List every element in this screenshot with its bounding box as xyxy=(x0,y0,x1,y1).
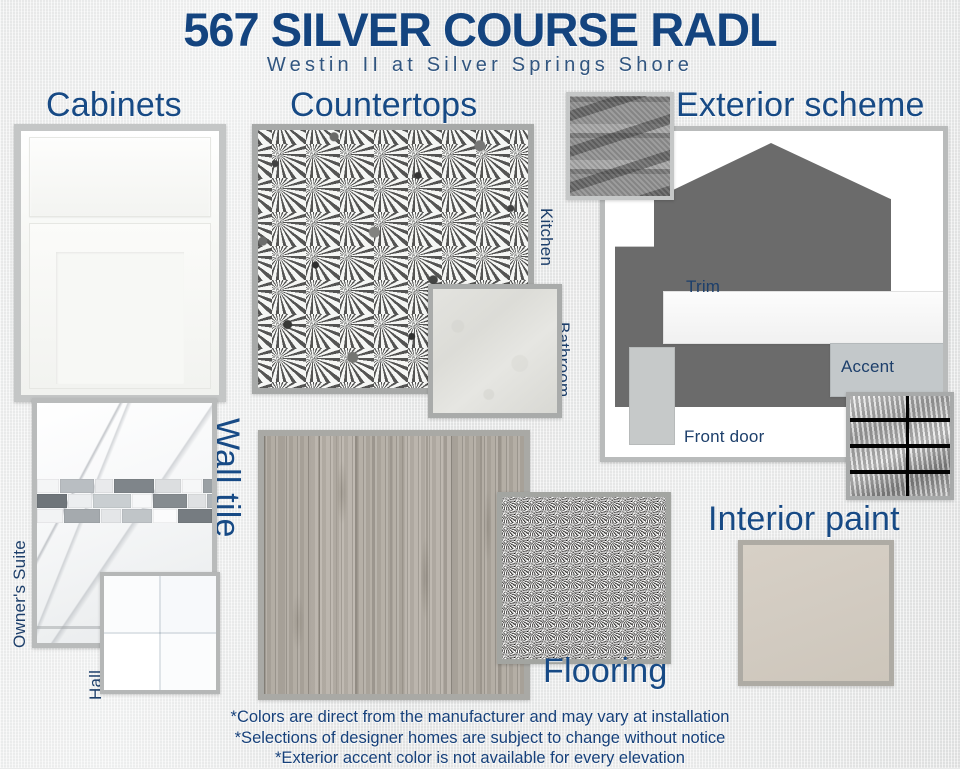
shingle-texture xyxy=(570,96,670,196)
flooring-carpet-swatch[interactable] xyxy=(497,492,671,664)
interior-paint-swatch[interactable] xyxy=(738,540,894,686)
mosaic-tile xyxy=(64,509,100,523)
mosaic-tile xyxy=(213,509,217,523)
hall-tile-texture xyxy=(104,576,216,690)
section-title-countertops: Countertops xyxy=(290,86,477,125)
mosaic-tile xyxy=(95,479,113,493)
page-title: 567 SILVER COURSE RADL xyxy=(0,2,960,57)
page-subtitle: Westin II at Silver Springs Shore xyxy=(0,54,960,77)
countertop-bathroom-swatch[interactable] xyxy=(428,284,562,418)
front-door-swatch[interactable] xyxy=(629,347,675,445)
mosaic-tile xyxy=(188,494,206,508)
mosaic-tile xyxy=(178,509,212,523)
mosaic-tile xyxy=(155,479,181,493)
section-title-cabinets: Cabinets xyxy=(46,86,182,125)
mosaic-tile xyxy=(60,479,94,493)
mosaic-tile xyxy=(37,479,59,493)
wall-tile-hall-swatch[interactable] xyxy=(100,572,220,694)
mosaic-tile xyxy=(203,479,217,493)
cabinet-door-panel xyxy=(56,252,184,384)
mosaic-row-3 xyxy=(37,509,212,523)
mosaic-tile xyxy=(101,509,121,523)
disclaimer-block: *Colors are direct from the manufacturer… xyxy=(0,707,960,769)
cabinet-drawer-front xyxy=(29,137,211,217)
mosaic-tile xyxy=(207,494,217,508)
label-accent: Accent xyxy=(841,357,894,377)
mosaic-tile xyxy=(114,479,154,493)
section-title-exterior-scheme: Exterior scheme xyxy=(676,86,925,125)
mosaic-row-2 xyxy=(37,494,212,508)
label-owners-suite: Owner's Suite xyxy=(10,540,30,648)
carpet-texture xyxy=(502,497,666,659)
trim-swatch[interactable] xyxy=(663,291,948,344)
section-title-flooring: Flooring xyxy=(543,652,667,691)
mosaic-tile xyxy=(132,494,152,508)
cabinet-door xyxy=(29,223,211,389)
disclaimer-line-3: *Exterior accent color is not available … xyxy=(0,748,960,769)
label-front-door: Front door xyxy=(684,427,764,447)
mosaic-row-1 xyxy=(37,479,212,493)
disclaimer-line-2: *Selections of designer homes are subjec… xyxy=(0,728,960,749)
wood-plank-texture xyxy=(264,436,524,694)
mosaic-tile xyxy=(153,494,187,508)
disclaimer-line-1: *Colors are direct from the manufacturer… xyxy=(0,707,960,728)
mosaic-tile xyxy=(68,494,92,508)
stone-texture xyxy=(850,396,950,496)
flooring-plank-swatch[interactable] xyxy=(258,430,530,700)
cabinet-face xyxy=(21,131,219,395)
mosaic-tile xyxy=(182,479,202,493)
mosaic-tile xyxy=(153,509,177,523)
cabinet-swatch[interactable] xyxy=(14,124,226,402)
mosaic-tile xyxy=(37,509,63,523)
mosaic-tile xyxy=(122,509,152,523)
roof-shingle-swatch[interactable] xyxy=(566,92,674,200)
mosaic-tile xyxy=(37,494,67,508)
mosaic-tile xyxy=(93,494,131,508)
label-trim: Trim xyxy=(686,277,720,297)
stone-veneer-swatch[interactable] xyxy=(846,392,954,500)
label-kitchen: Kitchen xyxy=(536,208,556,266)
section-title-interior-paint: Interior paint xyxy=(708,500,900,539)
